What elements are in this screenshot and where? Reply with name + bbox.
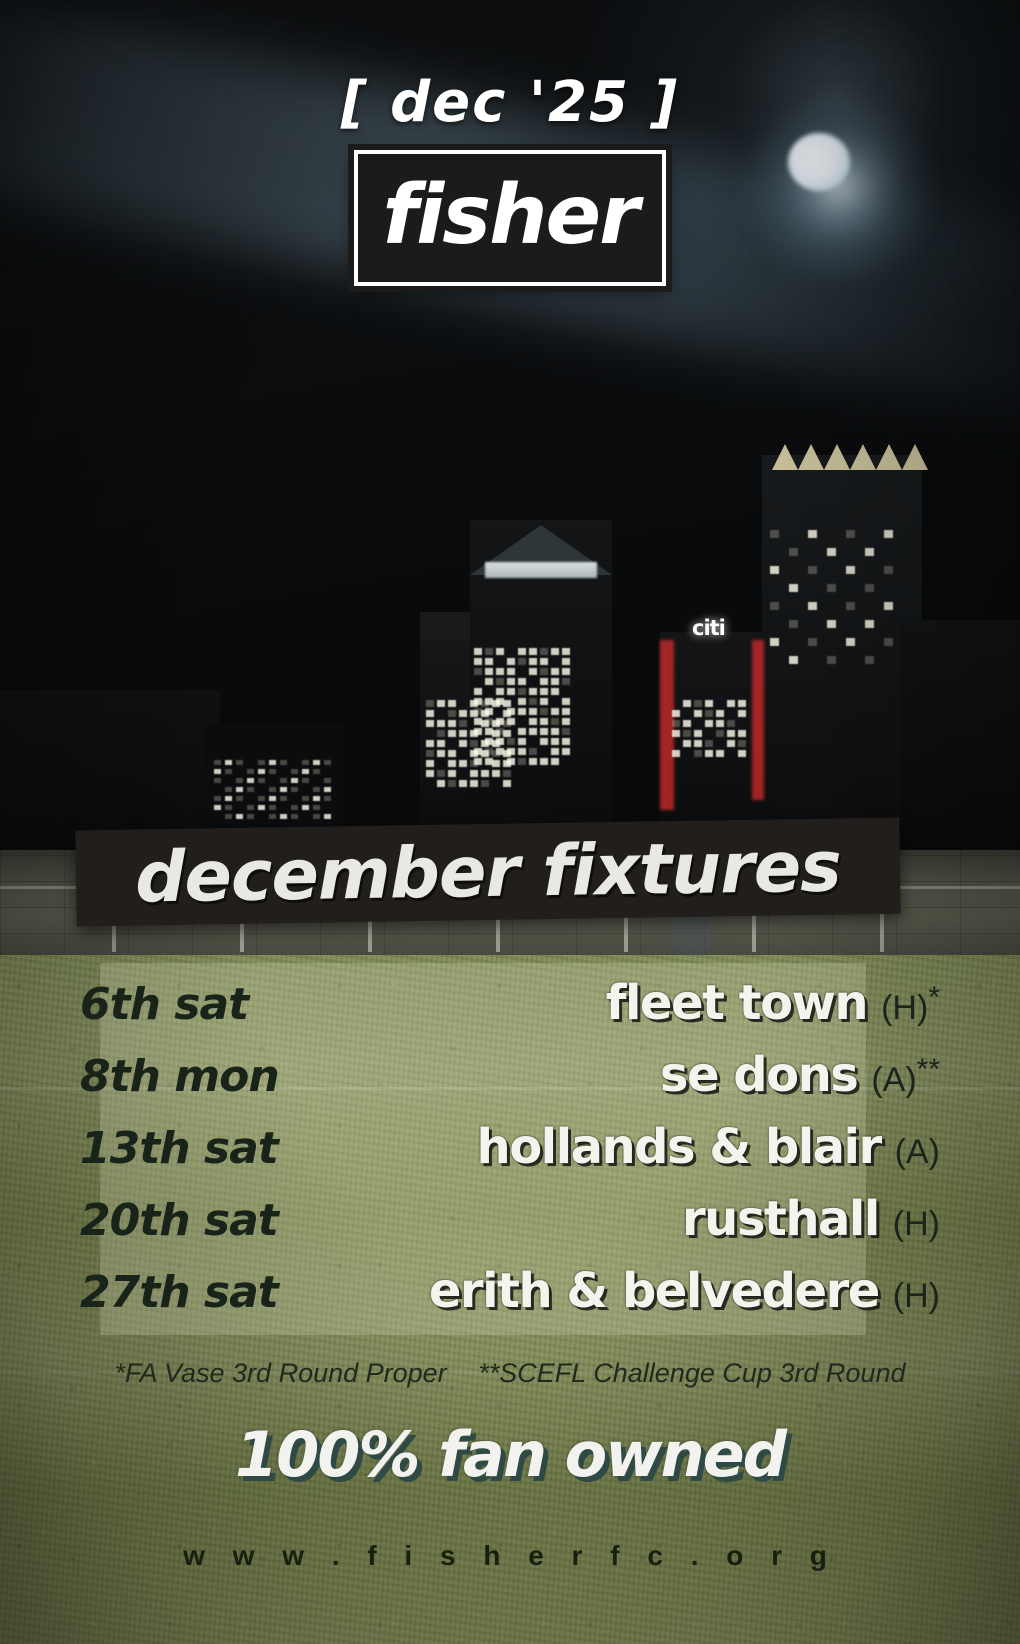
fan-owned-tagline: 100% fan owned: [0, 1418, 1020, 1491]
fixture-detail: erith & belvedere (H): [429, 1263, 940, 1319]
fixtures-poster: citi: [0, 0, 1020, 1644]
fixture-row: 13th sat hollands & blair (A): [80, 1119, 940, 1191]
fixture-date: 20th sat: [80, 1195, 278, 1246]
fixture-row: 20th sat rusthall (H): [80, 1191, 940, 1263]
fixture-row: 27th sat erith & belvedere (H): [80, 1263, 940, 1335]
club-logo-box: fisher: [354, 150, 666, 286]
fixture-detail: rusthall (H): [682, 1191, 940, 1247]
fixture-venue: (H): [881, 989, 928, 1028]
fixture-date: 13th sat: [80, 1123, 278, 1174]
fixture-opponent: erith & belvedere: [429, 1263, 879, 1319]
fixture-row: 6th sat fleet town (H) *: [80, 975, 940, 1047]
fixture-venue: (A): [871, 1061, 916, 1100]
fixture-opponent: se dons: [660, 1047, 857, 1103]
month-tag: [ dec '25 ]: [0, 70, 1020, 135]
fixture-venue: (H): [893, 1277, 940, 1316]
fixture-date: 6th sat: [80, 979, 248, 1030]
fixture-detail: hollands & blair (A): [477, 1119, 940, 1175]
fixture-venue: (H): [893, 1205, 940, 1244]
fixtures-list: 6th sat fleet town (H) * 8th mon se dons…: [80, 975, 940, 1335]
fixture-opponent: hollands & blair: [477, 1119, 881, 1175]
club-logo-text: fisher: [382, 175, 637, 257]
fixtures-banner: december fixtures: [75, 818, 900, 927]
fixture-opponent: rusthall: [682, 1191, 879, 1247]
fixture-detail: fleet town (H) *: [606, 975, 940, 1031]
fixture-detail: se dons (A) **: [660, 1047, 940, 1103]
footnote-fa-vase: *FA Vase 3rd Round Proper: [115, 1358, 447, 1388]
fixture-date: 8th mon: [80, 1051, 279, 1102]
footnotes: *FA Vase 3rd Round Proper **SCEFL Challe…: [0, 1358, 1020, 1389]
fixture-row: 8th mon se dons (A) **: [80, 1047, 940, 1119]
fixture-venue: (A): [895, 1133, 940, 1172]
poster-content: [ dec '25 ] fisher december fixtures 6th…: [0, 0, 1020, 1644]
fixture-date: 27th sat: [80, 1267, 278, 1318]
website-url: w w w . f i s h e r f c . o r g: [0, 1540, 1020, 1572]
fixtures-banner-title: december fixtures: [135, 831, 842, 912]
fixture-opponent: fleet town: [606, 975, 868, 1031]
footnote-scefl-cup: **SCEFL Challenge Cup 3rd Round: [478, 1358, 905, 1388]
